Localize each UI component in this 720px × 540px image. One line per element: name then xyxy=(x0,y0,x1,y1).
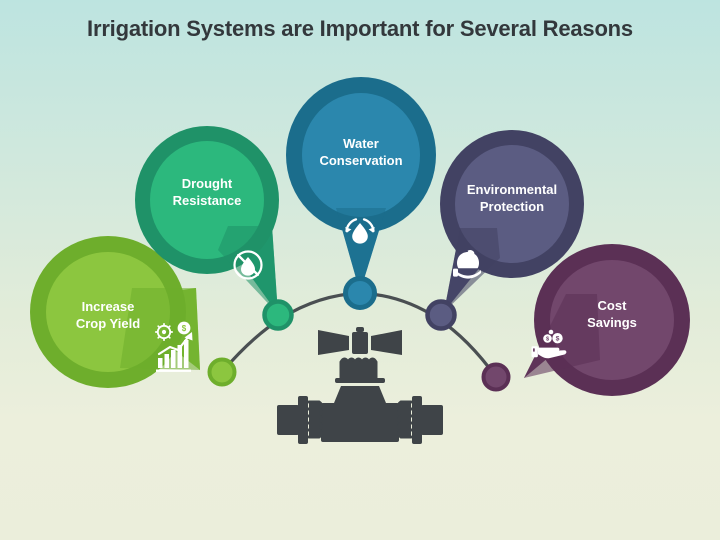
bubble-water-conservation[interactable] xyxy=(286,77,436,292)
svg-text:$: $ xyxy=(182,324,187,333)
bubble-inner-water-conservation xyxy=(302,93,420,217)
pipe-valve-icon xyxy=(277,327,443,444)
svg-text:$: $ xyxy=(556,336,560,343)
arc-dot-increase-crop-yield[interactable] xyxy=(210,360,235,385)
arc-dot-environmental-protection[interactable] xyxy=(428,302,455,329)
infographic-slide: Irrigation Systems are Important for Sev… xyxy=(0,0,720,540)
arc-dot-drought-resistance[interactable] xyxy=(265,302,292,329)
arc-dot-water-conservation[interactable] xyxy=(346,279,375,308)
infographic-canvas: $ xyxy=(0,0,720,540)
arc-dot-cost-savings[interactable] xyxy=(484,365,509,390)
